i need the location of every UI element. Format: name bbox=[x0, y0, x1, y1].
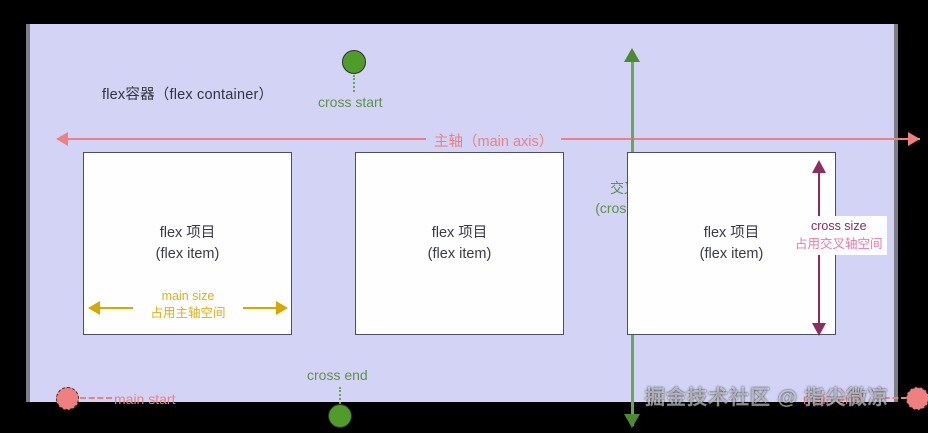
flex-item-2: flex 项目 (flex item) bbox=[355, 152, 564, 335]
main-end-dot-icon bbox=[906, 387, 928, 410]
cross-start-stem bbox=[353, 75, 355, 92]
main-start-dash bbox=[80, 397, 112, 399]
watermark: 掘金技术社区 @ 指尖微凉 bbox=[645, 381, 889, 410]
cross-size-label-zh: 占用交叉轴空间 bbox=[795, 236, 883, 254]
cross-axis-arrow-up-icon bbox=[624, 48, 640, 62]
flex-item-3-line1: flex 项目 bbox=[704, 223, 760, 244]
cross-size-arrow-up-icon bbox=[812, 160, 826, 173]
flex-item-1-line1: flex 项目 bbox=[160, 223, 216, 244]
cross-size-label: cross size 占用交叉轴空间 bbox=[791, 216, 887, 255]
cross-start-label: cross start bbox=[318, 94, 383, 110]
main-start-dot-icon bbox=[56, 387, 79, 410]
cross-end-dot-icon bbox=[328, 404, 352, 428]
main-size-label-en: main size bbox=[162, 289, 215, 303]
cross-start-dot-icon bbox=[342, 50, 366, 74]
main-size-arrow-right-icon bbox=[276, 301, 288, 315]
main-axis-arrow-left-icon bbox=[56, 132, 68, 146]
main-size-label: main size 占用主轴空间 bbox=[133, 288, 243, 322]
cross-size-label-en: cross size bbox=[795, 218, 883, 236]
flex-item-2-line1: flex 项目 bbox=[432, 223, 488, 244]
diagram-canvas: flex容器（flex container） 主轴（main axis） 交叉轴… bbox=[0, 0, 928, 433]
flex-container-label: flex容器（flex container） bbox=[102, 83, 273, 104]
cross-end-stem bbox=[339, 387, 341, 404]
flex-item-1-line2: (flex item) bbox=[156, 244, 220, 265]
flex-item-2-line2: (flex item) bbox=[428, 244, 492, 265]
main-size-label-zh: 占用主轴空间 bbox=[150, 306, 225, 320]
flex-item-3-line2: (flex item) bbox=[700, 244, 764, 265]
main-axis-arrow-right-icon bbox=[908, 132, 920, 146]
cross-end-label: cross end bbox=[307, 367, 368, 383]
cross-size-arrow-down-icon bbox=[812, 323, 826, 336]
main-size-arrow-left-icon bbox=[88, 301, 100, 315]
main-axis-label: 主轴（main axis） bbox=[426, 130, 561, 151]
cross-axis-arrow-down-icon bbox=[624, 414, 640, 428]
main-start-label: main start bbox=[114, 391, 175, 407]
